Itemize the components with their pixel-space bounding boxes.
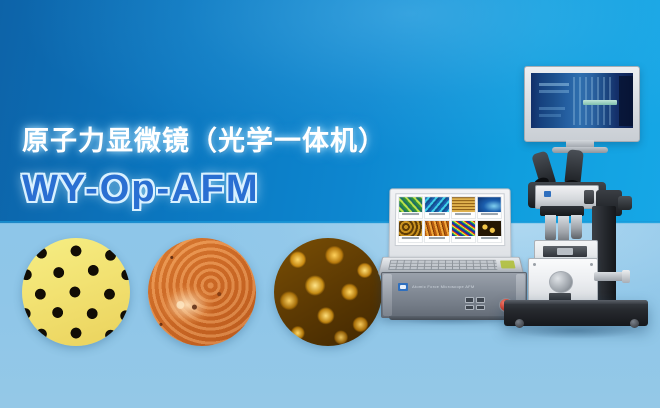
thumbnail-caption [425,236,448,242]
panel-screw [590,263,593,266]
controller-rack-ear-left [383,274,392,316]
vibration-isolation-foot-left [515,319,524,328]
port-1[interactable] [465,297,474,303]
view-stripe [539,90,569,93]
scan-thumbnail-brown-grains [398,220,423,243]
objective-lens-1 [545,215,556,241]
laptop-keyboard [388,260,498,270]
scan-thumbnail-green-mesh [398,196,423,219]
afm-sample-nanoparticle-grains [274,238,382,346]
controller-port-panel[interactable] [465,297,485,310]
port-4[interactable] [476,305,485,311]
afm-sample-spiral-growth-topography [148,238,256,346]
scan-thumbnail-orange-fibers [424,220,449,243]
scan-thumbnail-brown-stripes [450,196,475,219]
view-stripe [539,83,569,86]
monitor-live-view [531,73,633,128]
scan-thumbnail-gold-rings [477,220,502,243]
port-3[interactable] [465,305,474,311]
manufacturer-logo-icon [398,283,408,291]
thumbnail-caption [399,236,422,242]
head-logo-icon [544,191,551,197]
scan-thumbnail-blue-plume [477,196,502,219]
thumbnail-caption [451,212,474,218]
laptop-lid [389,188,512,258]
granite-base-top-edge [504,300,648,304]
head-adjust-knob[interactable] [584,190,594,204]
product-banner: 原子力显微镜（光学一体机） WY-Op-AFM [0,0,660,408]
scan-thumbnail-cyan-network [424,196,449,219]
port-2[interactable] [476,297,485,303]
controller-label: Atomic Force Microscope AFM [412,284,475,289]
cantilever-probe-icon [583,100,617,105]
view-stripe [539,114,561,117]
objective-lens-3 [571,215,582,239]
view-stripe [539,107,565,110]
thumbnail-caption [478,236,501,242]
afm-sample-hexagonal-pore-array [22,238,130,346]
thumbnail-caption [478,212,501,218]
scan-thumbnail-rainbow-height [450,220,475,243]
laptop-screen [395,193,506,246]
panel-screw [533,263,536,266]
product-model-number: WY-Op-AFM [22,166,260,212]
sample-holder-slot [543,246,587,257]
microscope-monitor [524,66,640,142]
thumbnail-caption [452,236,475,242]
focus-axle[interactable] [594,272,624,281]
coarse-approach-knob[interactable] [549,271,573,293]
thumbnail-caption [425,212,448,218]
vibration-isolation-foot-right [630,319,639,328]
laptop-trackpad [500,261,516,269]
focus-knob[interactable] [622,270,630,283]
headline-chinese: 原子力显微镜（光学一体机） [22,124,386,158]
thumbnail-caption [399,212,422,218]
view-dark-edge [619,76,633,126]
side-port-camera [618,196,632,210]
